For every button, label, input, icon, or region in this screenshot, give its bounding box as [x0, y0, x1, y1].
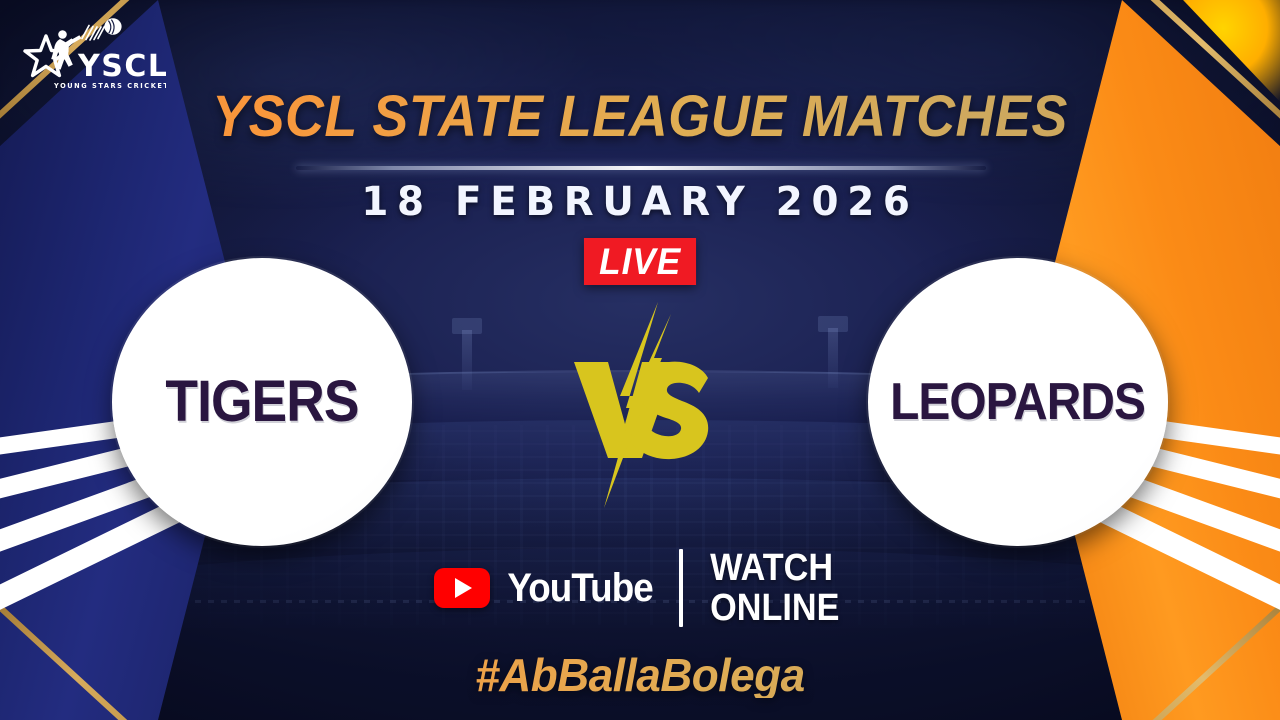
youtube-play-icon: [434, 568, 490, 608]
match-promo-poster: YSCL YOUNG STARS CRICKET LEAGUE YSCL STA…: [0, 0, 1280, 720]
youtube-wordmark: YouTube: [507, 568, 653, 608]
campaign-hashtag: #AbBallaBolega: [26, 652, 1255, 698]
yscl-logo[interactable]: YSCL YOUNG STARS CRICKET LEAGUE: [16, 14, 166, 96]
cta-line-1: WATCH: [710, 548, 839, 588]
cricket-ball-icon: [104, 18, 121, 34]
logo-wordmark: YSCL: [77, 49, 166, 84]
match-date: 18 FEBRUARY 2026: [19, 182, 1261, 222]
watch-online-row: YouTube WATCH ONLINE: [0, 548, 1280, 628]
poster-headline: YSCL STATE LEAGUE MATCHES: [45, 88, 1235, 146]
ball-motion-lines: [82, 26, 105, 41]
team-left-circle[interactable]: TIGERS: [112, 258, 412, 546]
play-triangle-icon: [455, 578, 472, 598]
team-right-circle[interactable]: LEOPARDS: [868, 258, 1168, 546]
team-right-name: LEOPARDS: [891, 376, 1146, 428]
headline-divider: [296, 166, 986, 170]
cta-line-2: ONLINE: [710, 588, 839, 628]
versus-graphic: [556, 300, 736, 510]
vertical-divider: [679, 549, 683, 627]
live-badge: LIVE: [584, 238, 696, 285]
team-left-name: TIGERS: [165, 373, 358, 431]
youtube-brand[interactable]: YouTube: [434, 568, 659, 608]
watch-online-cta: WATCH ONLINE: [710, 548, 839, 628]
